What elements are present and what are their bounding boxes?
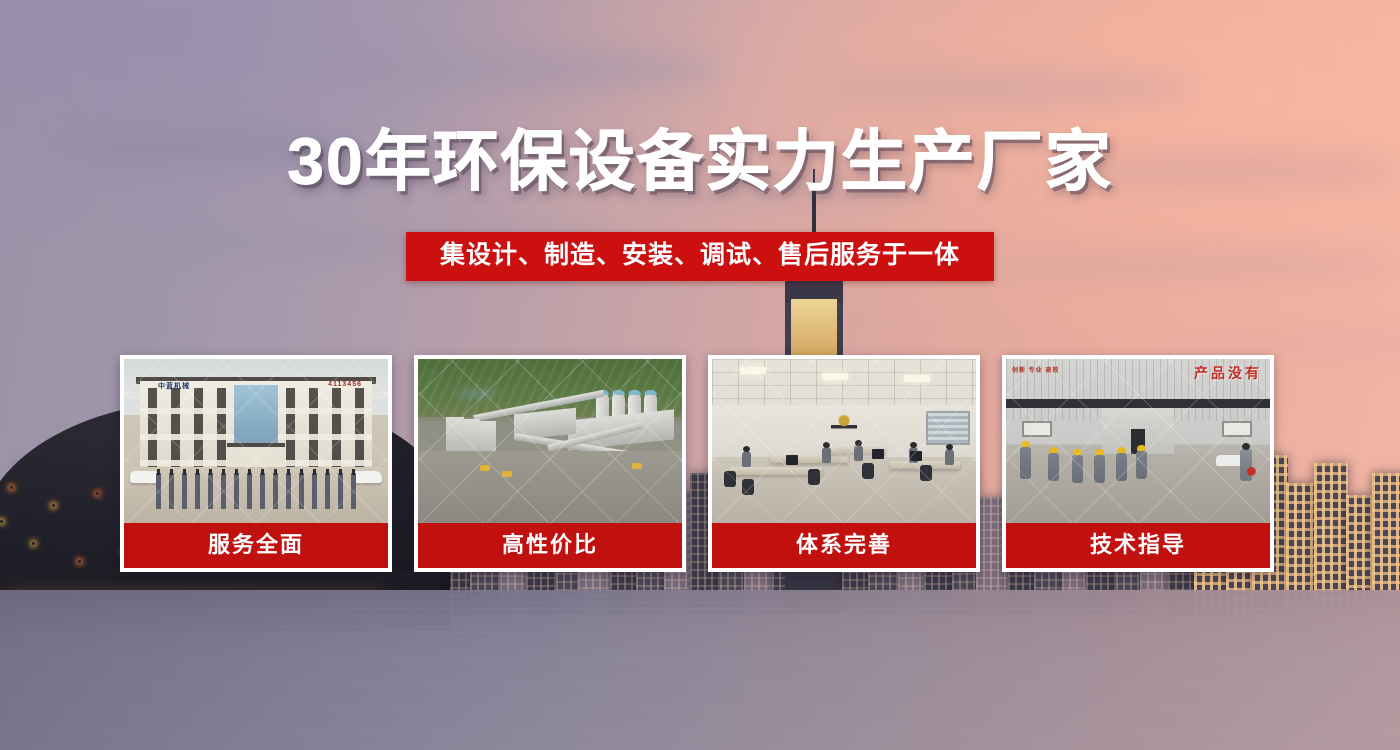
feature-card[interactable]: 产品没有 创新 专业 高效 技术指导	[1002, 355, 1274, 572]
factory-slogan-small-text: 创新 专业 高效	[1012, 367, 1059, 376]
feature-card[interactable]: 高性价比	[414, 355, 686, 572]
cloud-shape	[820, 70, 1200, 106]
feature-card-list: 中蓝机械 4113456 服务全面	[120, 355, 1278, 572]
page-title: 30年环保设备实力生产厂家	[0, 128, 1400, 194]
river-water	[0, 590, 1400, 750]
workers-training-photo: 产品没有 创新 专业 高效	[1006, 359, 1270, 523]
building-phone-text: 4113456	[328, 381, 362, 388]
subtitle-bar-wrapper: 集设计、制造、安装、调试、售后服务于一体	[0, 232, 1400, 281]
subtitle-banner: 集设计、制造、安装、调试、售后服务于一体	[406, 232, 994, 281]
company-building-photo: 中蓝机械 4113456	[124, 359, 388, 523]
building-sign-text: 中蓝机械	[158, 381, 190, 391]
card-caption: 高性价比	[418, 523, 682, 568]
card-caption: 服务全面	[124, 523, 388, 568]
wall-logo	[831, 413, 857, 435]
card-caption: 技术指导	[1006, 523, 1270, 568]
feature-card[interactable]: 体系完善	[708, 355, 980, 572]
aerial-plant-photo	[418, 359, 682, 523]
card-caption: 体系完善	[712, 523, 976, 568]
office-interior-photo	[712, 359, 976, 523]
feature-card[interactable]: 中蓝机械 4113456 服务全面	[120, 355, 392, 572]
cloud-shape	[300, 50, 720, 90]
hero-banner: 30年环保设备实力生产厂家 集设计、制造、安装、调试、售后服务于一体 中蓝机械 …	[0, 0, 1400, 750]
factory-slogan-text: 产品没有	[1194, 363, 1262, 383]
